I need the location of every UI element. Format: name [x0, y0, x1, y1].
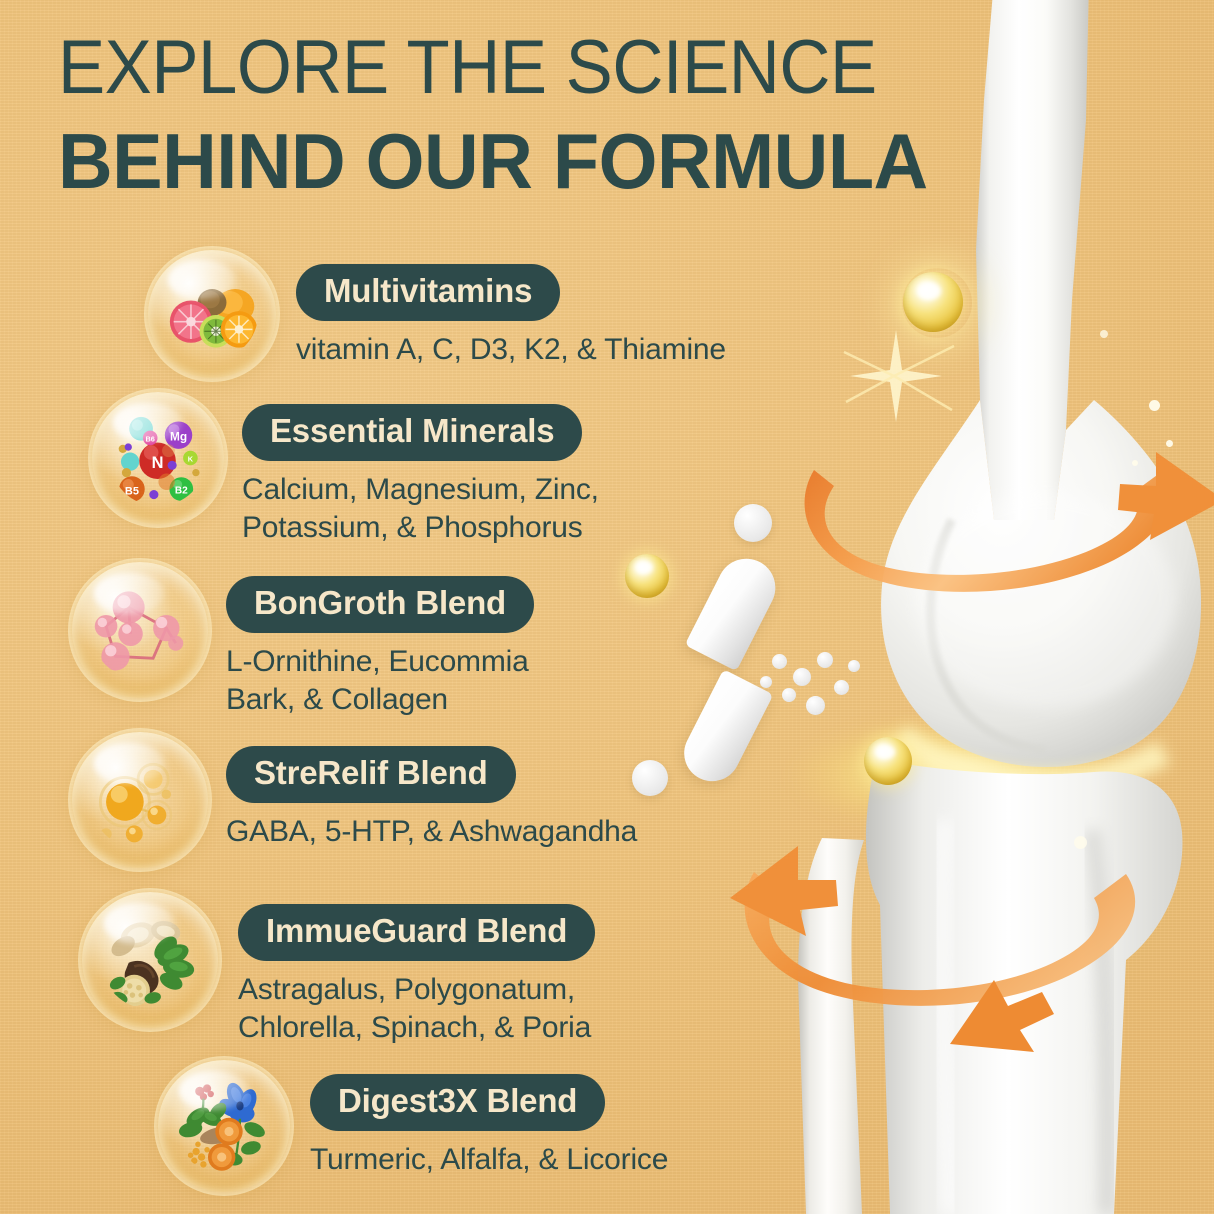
capsule-bottom-half — [675, 669, 774, 791]
ingredient-icon-wrap — [82, 892, 218, 1028]
svg-text:N: N — [152, 454, 164, 472]
ingredient-desc-essential-minerals: Calcium, Magnesium, Zinc, Potassium, & P… — [242, 471, 599, 548]
ingredient-desc-multivitamins: vitamin A, C, D3, K2, & Thiamine — [296, 331, 726, 369]
capsule-granule — [817, 652, 833, 668]
ingredient-icon-wrap — [158, 1060, 290, 1192]
capsule-granule — [806, 696, 825, 715]
bone-particle — [1166, 440, 1173, 447]
femur-condyles — [881, 400, 1201, 767]
orange-ribbon-arrow-lower — [730, 846, 1135, 1052]
ingredient-row-strerelif-blend: StreRelif Blend GABA, 5-HTP, & Ashwagand… — [72, 732, 637, 868]
ingredient-text: Essential Minerals Calcium, Magnesium, Z… — [242, 392, 599, 548]
white-sphere — [632, 760, 668, 796]
fruit-bubble-icon — [148, 250, 276, 378]
ingredient-text: StreRelif Blend GABA, 5-HTP, & Ashwagand… — [226, 732, 637, 851]
ingredient-desc-immueguard-blend: Astragalus, Polygonatum, Chlorella, Spin… — [238, 971, 591, 1048]
ingredient-text: BonGroth Blend L-Ornithine, Eucommia Bar… — [226, 562, 534, 720]
capsule-granule — [834, 680, 849, 695]
ingredient-row-digest3x-blend: Digest3X Blend Turmeric, Alfalfa, & Lico… — [158, 1060, 668, 1192]
ingredient-text: ImmueGuard Blend Astragalus, Polygonatum… — [238, 892, 595, 1048]
bone-particle — [1132, 460, 1138, 466]
capsule-granule — [760, 676, 772, 688]
gold-oil-droplet — [864, 737, 912, 785]
ingredient-row-multivitamins: Multivitamins vitamin A, C, D3, K2, & Th… — [148, 250, 726, 378]
bone-particle — [1074, 836, 1087, 849]
collagen-molecule-bubble-icon — [72, 562, 208, 698]
capsule-granule — [782, 688, 796, 702]
bone-particle — [1149, 400, 1160, 411]
turmeric-flower-bubble-icon — [158, 1060, 290, 1192]
ingredient-icon-wrap — [72, 732, 208, 868]
page-title: EXPLORE THE SCIENCE BEHIND OUR FORMULA — [58, 30, 1068, 200]
ingredient-badge-bongroth-blend[interactable]: BonGroth Blend — [226, 576, 534, 633]
sparkle-burst — [844, 330, 954, 422]
capsule-granule — [772, 654, 787, 669]
white-sphere — [734, 504, 772, 542]
ingredient-text: Digest3X Blend Turmeric, Alfalfa, & Lico… — [310, 1060, 668, 1179]
svg-text:B6: B6 — [146, 435, 155, 444]
capsule-granule — [848, 660, 860, 672]
title-line-2: BEHIND OUR FORMULA — [58, 122, 1038, 200]
ingredient-badge-multivitamins[interactable]: Multivitamins — [296, 264, 560, 321]
infographic-canvas: EXPLORE THE SCIENCE BEHIND OUR FORMULA — [0, 0, 1214, 1214]
svg-text:Mg: Mg — [170, 430, 187, 444]
ingredient-badge-essential-minerals[interactable]: Essential Minerals — [242, 404, 582, 461]
bone-particle — [1100, 330, 1108, 338]
fibula-bone — [798, 838, 864, 1214]
title-line-1: EXPLORE THE SCIENCE — [58, 30, 997, 106]
svg-text:B5: B5 — [125, 486, 139, 498]
ingredient-badge-strerelif-blend[interactable]: StreRelif Blend — [226, 746, 516, 803]
ingredient-badge-digest3x-blend[interactable]: Digest3X Blend — [310, 1074, 605, 1131]
ingredient-desc-digest3x-blend: Turmeric, Alfalfa, & Licorice — [310, 1141, 668, 1179]
ingredient-desc-bongroth-blend: L-Ornithine, Eucommia Bark, & Collagen — [226, 643, 529, 720]
ingredient-icon-wrap — [148, 250, 276, 378]
ingredient-text: Multivitamins vitamin A, C, D3, K2, & Th… — [296, 250, 726, 369]
ingredient-icon-wrap — [72, 562, 208, 698]
ingredient-icon-wrap: Mg N B5 B2 B6 — [92, 392, 224, 524]
capsule-top-half — [685, 549, 786, 672]
svg-text:B2: B2 — [175, 486, 188, 497]
herb-roots-bubble-icon — [82, 892, 218, 1028]
open-capsule — [700, 556, 900, 776]
gold-oil-droplet — [903, 272, 963, 332]
ingredient-row-essential-minerals: Mg N B5 B2 B6 — [92, 392, 599, 548]
ingredient-desc-strerelif-blend: GABA, 5-HTP, & Ashwagandha — [226, 813, 637, 851]
ingredient-badge-immueguard-blend[interactable]: ImmueGuard Blend — [238, 904, 595, 961]
oil-droplet-bubble-icon — [72, 732, 208, 868]
ingredient-row-bongroth-blend: BonGroth Blend L-Ornithine, Eucommia Bar… — [72, 562, 534, 720]
gold-oil-droplet — [625, 554, 669, 598]
svg-text:K: K — [188, 455, 194, 464]
capsule-granule — [793, 668, 811, 686]
ingredient-row-immueguard-blend: ImmueGuard Blend Astragalus, Polygonatum… — [82, 892, 595, 1048]
tibia-bone — [866, 762, 1183, 1214]
mineral-molecule-bubble-icon: Mg N B5 B2 B6 — [92, 392, 224, 524]
